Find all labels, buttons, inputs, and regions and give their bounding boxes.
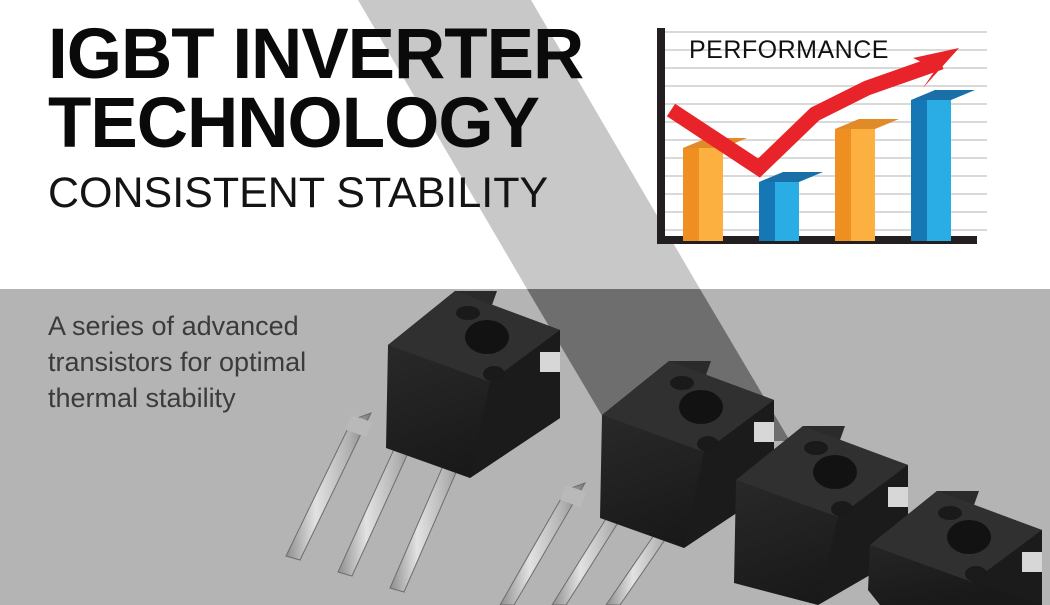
performance-chart: PERFORMANCE [655,26,995,256]
headline-line-2: TECHNOLOGY [48,91,648,156]
body-paragraph: A series of advanced transistors for opt… [48,308,378,417]
headline-subtitle: CONSISTENT STABILITY [48,169,648,218]
headline-block: IGBT INVERTER TECHNOLOGY CONSISTENT STAB… [48,22,648,218]
headline-line-1: IGBT INVERTER [48,22,648,87]
bar-chart-icon: PERFORMANCE [655,26,995,256]
chart-title: PERFORMANCE [689,36,889,64]
promo-banner: IGBT INVERTER TECHNOLOGY CONSISTENT STAB… [0,0,1050,605]
chart-y-axis [657,28,665,244]
